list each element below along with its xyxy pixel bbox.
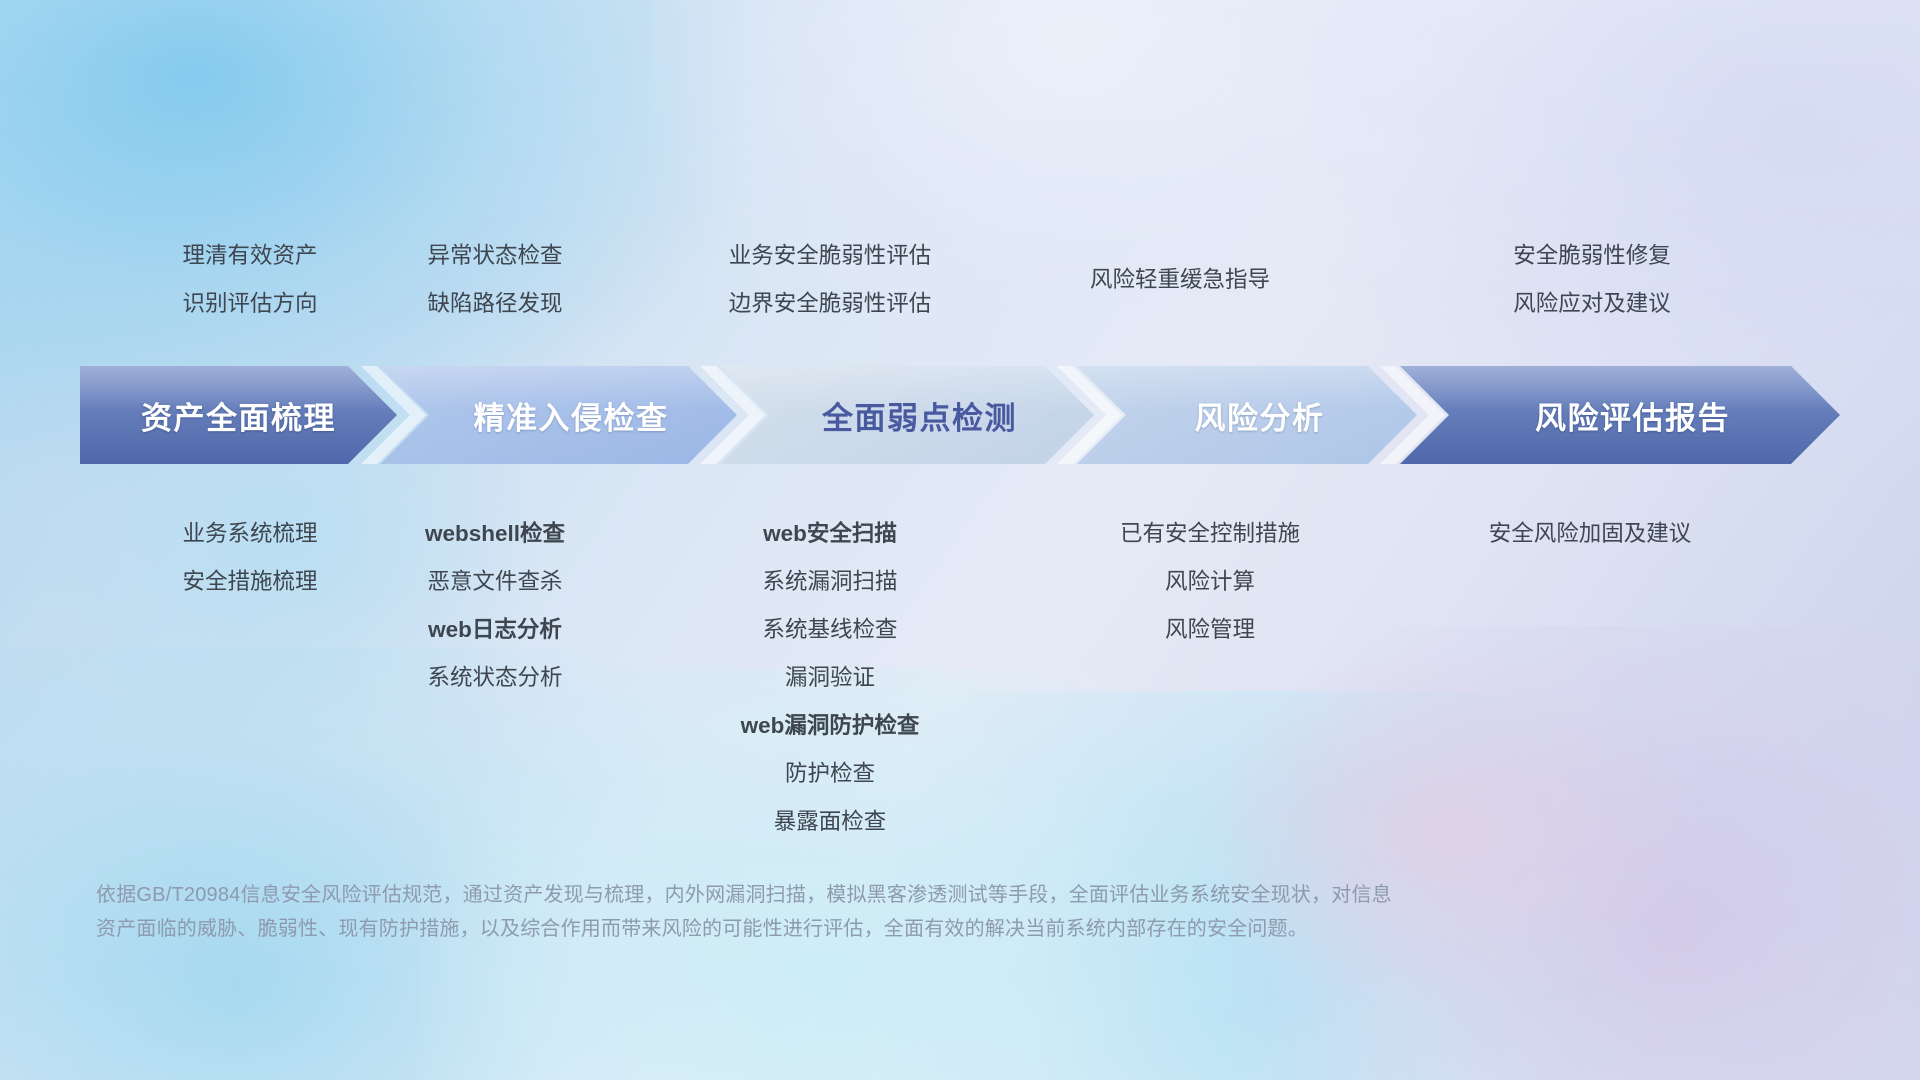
bottom-items-risk-analysis: 已有安全控制措施 风险计算 风险管理	[1040, 510, 1380, 654]
bottom-item: 安全风险加固及建议	[1360, 510, 1820, 558]
stage-arrow-weakness-detection[interactable]: 全面弱点检测	[745, 366, 1094, 464]
stage-label: 全面弱点检测	[822, 393, 1017, 438]
stage-arrow-band: 资产全面梳理 精准入侵检查 全面弱点检测 风险分析 风险评估报告	[80, 366, 1840, 464]
bottom-item: 暴露面检查	[620, 798, 1040, 846]
footer-description: 依据GB/T20984信息安全风险评估规范，通过资产发现与梳理，内外网漏洞扫描，…	[96, 878, 1626, 946]
bottom-item: 漏洞验证	[620, 654, 1040, 702]
stage-label: 资产全面梳理	[141, 393, 336, 438]
bottom-item: web安全扫描	[620, 510, 1040, 558]
stage-arrow-risk-analysis[interactable]: 风险分析	[1102, 366, 1417, 464]
process-diagram: 资产全面梳理 精准入侵检查 全面弱点检测 风险分析 风险评估报告 理清有效资产 …	[0, 0, 1920, 1080]
bottom-item: web漏洞防护检查	[620, 702, 1040, 750]
bottom-items-weakness-detection: web安全扫描 系统漏洞扫描 系统基线检查 漏洞验证 web漏洞防护检查 防护检…	[620, 510, 1040, 846]
bottom-item: webshell检查	[325, 510, 665, 558]
top-items-risk-analysis: 风险轻重缓急指导	[1010, 256, 1350, 304]
stage-label: 风险评估报告	[1535, 393, 1730, 438]
bottom-item: 系统漏洞扫描	[620, 558, 1040, 606]
bottom-item: 系统基线检查	[620, 606, 1040, 654]
stage-arrow-asset-review[interactable]: 资产全面梳理	[80, 366, 397, 464]
bottom-item: 防护检查	[620, 750, 1040, 798]
bottom-item: 风险计算	[1040, 558, 1380, 606]
bottom-item: 已有安全控制措施	[1040, 510, 1380, 558]
bottom-item: web日志分析	[325, 606, 665, 654]
top-item: 缺陷路径发现	[325, 280, 665, 328]
stage-arrow-risk-report[interactable]: 风险评估报告	[1425, 366, 1840, 464]
top-item: 异常状态检查	[325, 232, 665, 280]
bottom-items-intrusion-check: webshell检查 恶意文件查杀 web日志分析 系统状态分析	[325, 510, 665, 702]
top-items-intrusion-check: 异常状态检查 缺陷路径发现	[325, 232, 665, 328]
stage-arrow-intrusion-check[interactable]: 精准入侵检查	[405, 366, 737, 464]
caption-line-2: 资产面临的威胁、脆弱性、现有防护措施，以及综合作用而带来风险的可能性进行评估，全…	[96, 912, 1626, 946]
stage-label: 精准入侵检查	[474, 393, 669, 438]
bottom-item: 风险管理	[1040, 606, 1380, 654]
caption-line-1: 依据GB/T20984信息安全风险评估规范，通过资产发现与梳理，内外网漏洞扫描，…	[96, 878, 1626, 912]
top-item: 风险应对及建议	[1382, 280, 1802, 328]
top-item: 安全脆弱性修复	[1382, 232, 1802, 280]
bottom-item: 恶意文件查杀	[325, 558, 665, 606]
top-item: 边界安全脆弱性评估	[620, 280, 1040, 328]
top-item: 业务安全脆弱性评估	[620, 232, 1040, 280]
stage-label: 风险分析	[1195, 393, 1325, 438]
bottom-items-risk-report: 安全风险加固及建议	[1360, 510, 1820, 558]
top-items-risk-report: 安全脆弱性修复 风险应对及建议	[1382, 232, 1802, 328]
top-item: 风险轻重缓急指导	[1010, 256, 1350, 304]
bottom-item: 系统状态分析	[325, 654, 665, 702]
top-items-weakness-detection: 业务安全脆弱性评估 边界安全脆弱性评估	[620, 232, 1040, 328]
